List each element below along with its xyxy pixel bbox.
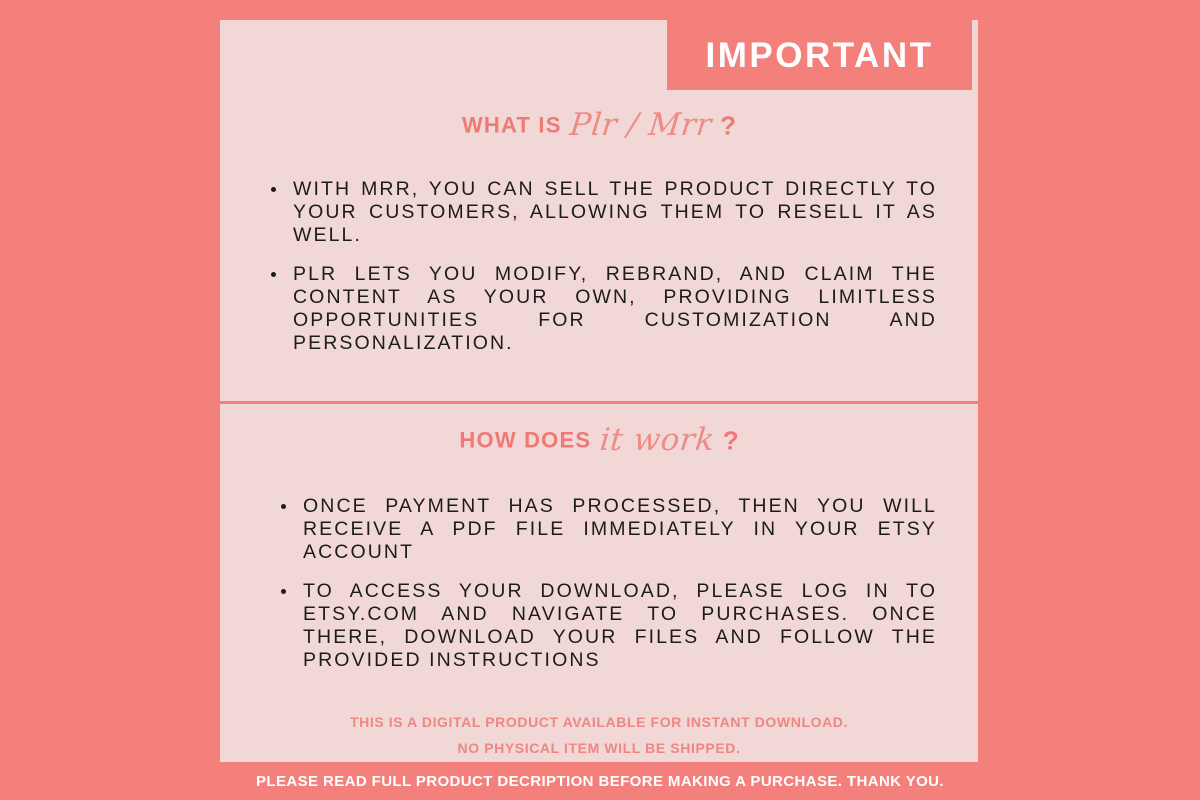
section-how-does-it-work: HOW DOES it work ? ONCE PAYMENT HAS PROC…	[220, 405, 978, 456]
poster-page: IMPORTANT WHAT IS Plr / Mrr ? WITH MRR, …	[0, 0, 1200, 800]
list-item: PLR LETS YOU MODIFY, REBRAND, AND CLAIM …	[265, 263, 937, 354]
digital-product-notes: THIS IS A DIGITAL PRODUCT AVAILABLE FOR …	[220, 710, 978, 762]
section-one-heading: WHAT IS Plr / Mrr ?	[220, 90, 978, 141]
footer-banner: PLEASE READ FULL PRODUCT DECRIPTION BEFO…	[0, 762, 1200, 800]
bullet-text: TO ACCESS YOUR DOWNLOAD, PLEASE LOG IN T…	[303, 580, 937, 670]
bullet-list-what-is: WITH MRR, YOU CAN SELL THE PRODUCT DIREC…	[265, 178, 937, 372]
bullet-list-how-it-works: ONCE PAYMENT HAS PROCESSED, THEN YOU WIL…	[275, 495, 937, 689]
info-card: IMPORTANT WHAT IS Plr / Mrr ? WITH MRR, …	[220, 20, 978, 762]
list-item: TO ACCESS YOUR DOWNLOAD, PLEASE LOG IN T…	[275, 580, 937, 671]
bullet-text: WITH MRR, YOU CAN SELL THE PRODUCT DIREC…	[293, 178, 937, 246]
section-two-heading: HOW DOES it work ?	[220, 405, 978, 456]
footer-text: PLEASE READ FULL PRODUCT DECRIPTION BEFO…	[256, 773, 944, 790]
heading-question-mark: ?	[720, 111, 736, 141]
note-line-instant-download: THIS IS A DIGITAL PRODUCT AVAILABLE FOR …	[220, 710, 978, 736]
section-divider	[220, 401, 978, 404]
heading-script-text: Plr / Mrr	[564, 110, 717, 141]
heading-bold-text: HOW DOES	[459, 428, 591, 453]
heading-bold-text: WHAT IS	[462, 113, 562, 138]
heading-question-mark: ?	[723, 426, 739, 456]
list-item: ONCE PAYMENT HAS PROCESSED, THEN YOU WIL…	[275, 495, 937, 563]
bullet-text: PLR LETS YOU MODIFY, REBRAND, AND CLAIM …	[293, 263, 937, 353]
list-item: WITH MRR, YOU CAN SELL THE PRODUCT DIREC…	[265, 178, 937, 246]
title-banner: IMPORTANT	[667, 20, 972, 90]
heading-script-text: it work	[594, 425, 720, 456]
note-line-no-physical-item: NO PHYSICAL ITEM WILL BE SHIPPED.	[220, 736, 978, 762]
section-what-is: WHAT IS Plr / Mrr ? WITH MRR, YOU CAN SE…	[220, 90, 978, 141]
page-title: IMPORTANT	[706, 38, 934, 73]
bullet-text: ONCE PAYMENT HAS PROCESSED, THEN YOU WIL…	[303, 495, 937, 563]
